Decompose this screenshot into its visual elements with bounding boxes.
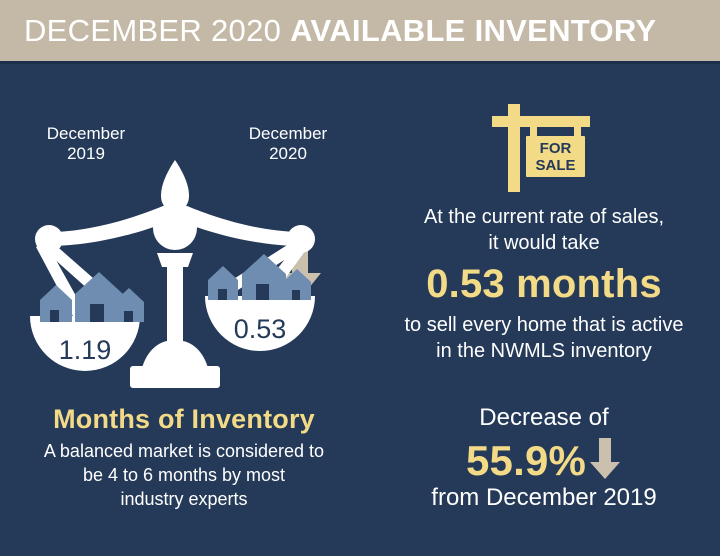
sign-text-sale: SALE xyxy=(535,157,575,174)
months-of-inventory-heading: Months of Inventory xyxy=(0,404,368,435)
rate-line1: At the current rate of sales, xyxy=(374,204,714,230)
sell-every-home-text: to sell every home that is active in the… xyxy=(370,312,718,364)
months-value: 0.53 months xyxy=(374,262,714,307)
sign-text-for: FOR xyxy=(540,140,572,157)
for-sale-sign-icon: FOR SALE xyxy=(486,100,601,200)
infographic-root: DECEMBER 2020 AVAILABLE INVENTORY Decemb… xyxy=(0,0,720,556)
sell-line2: in the NWMLS inventory xyxy=(370,338,718,364)
decrease-label: Decrease of xyxy=(374,404,714,432)
balanced-market-subtext: A balanced market is considered to be 4 … xyxy=(14,439,354,511)
value-2020: 0.53 xyxy=(234,314,287,344)
value-2019: 1.19 xyxy=(59,335,112,365)
subtext-line2: be 4 to 6 months by most xyxy=(14,463,354,487)
subtext-line1: A balanced market is considered to xyxy=(14,439,354,463)
down-arrow-icon xyxy=(588,436,622,485)
current-rate-text: At the current rate of sales, it would t… xyxy=(374,204,714,256)
right-panel: FOR SALE At the current rate of sales, i… xyxy=(368,64,720,556)
header-bar: DECEMBER 2020 AVAILABLE INVENTORY xyxy=(0,0,720,61)
sell-line1: to sell every home that is active xyxy=(370,312,718,338)
page-title: AVAILABLE INVENTORY xyxy=(290,13,656,49)
left-panel: December 2019 December 2020 xyxy=(0,64,368,556)
subtext-line3: industry experts xyxy=(14,487,354,511)
header-month-year: DECEMBER 2020 xyxy=(24,13,281,49)
label-2019-line1: December xyxy=(26,124,146,144)
decrease-percent: 55.9% xyxy=(466,438,586,484)
balance-scale-icon: 1.19 0.53 xyxy=(30,154,320,409)
decrease-row: 55.9% xyxy=(374,436,714,485)
rate-line2: it would take xyxy=(374,230,714,256)
from-december-text: from December 2019 xyxy=(374,484,714,512)
label-2020-line1: December xyxy=(228,124,348,144)
